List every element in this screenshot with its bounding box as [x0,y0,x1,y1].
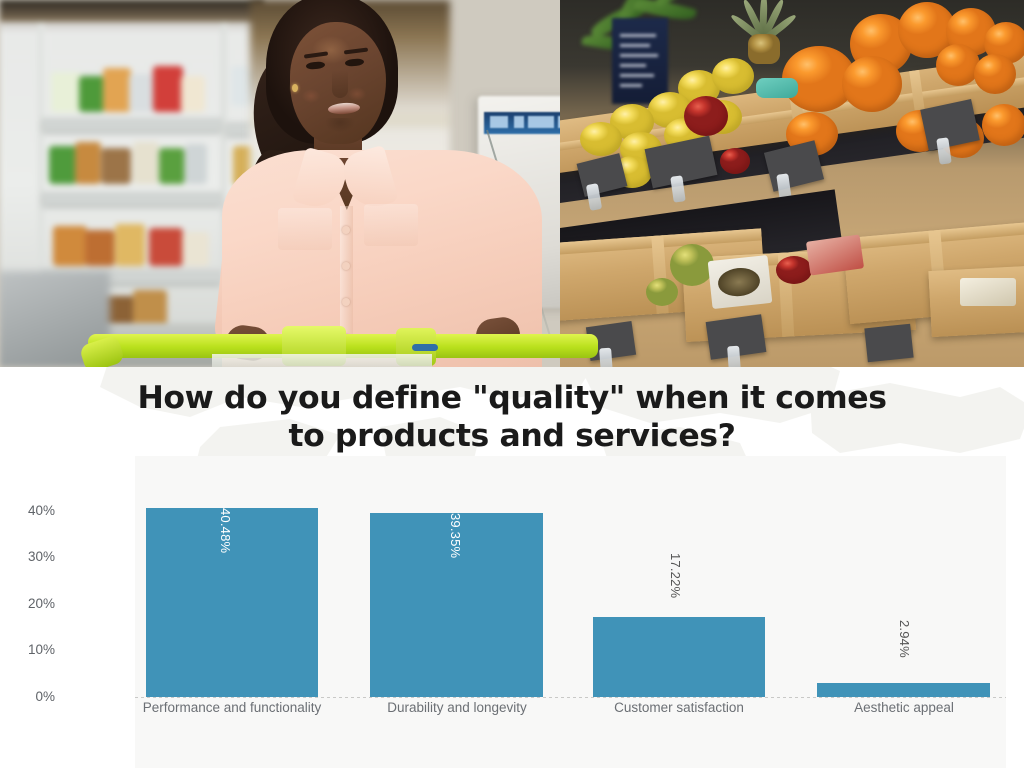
blouse-pocket [364,204,418,246]
button [342,226,350,234]
x-axis-category-label: Aesthetic appeal [806,700,1002,715]
orange [982,104,1024,146]
x-axis-category-label: Durability and longevity [354,700,560,715]
teal-label [756,78,798,98]
chart-section: How do you define "quality" when it come… [0,367,1024,768]
orange [936,44,980,86]
header-photo [0,0,1024,367]
store-signage [612,18,668,104]
x-axis-category-label: Customer satisfaction [578,700,780,715]
bar-series: 40.48% Performance and functionality 39.… [0,367,1024,768]
bar-value-label: 2.94% [897,620,912,658]
shopping-cart-handle [82,322,602,367]
price-tag [864,324,913,363]
bar-value-label: 17.22% [668,553,683,598]
bar-customer-satisfaction[interactable] [593,617,765,697]
product-package [960,278,1016,306]
slide-canvas: How do you define "quality" when it come… [0,0,1024,768]
green-apple [646,278,678,306]
cheek [298,86,324,106]
nose [332,70,348,98]
tag-clip [727,346,741,367]
apple [776,256,812,284]
bar-aesthetic-appeal[interactable] [817,683,990,697]
lemon [580,122,622,156]
pineapple [740,0,786,64]
bar-value-label: 40.48% [218,508,233,553]
bar-value-label: 39.35% [448,513,463,558]
shopper-person [228,0,538,367]
fridge-top-trim [0,0,264,22]
blouse-pocket [278,208,332,250]
button [342,262,350,270]
x-axis-category-label: Performance and functionality [126,700,338,715]
lemon [712,58,754,94]
button [342,298,350,306]
produce-display [560,0,1024,367]
orange [842,56,902,112]
apple [684,96,728,136]
product-package [708,255,773,309]
apple [720,148,750,174]
earring [292,84,298,92]
orange [974,54,1016,94]
